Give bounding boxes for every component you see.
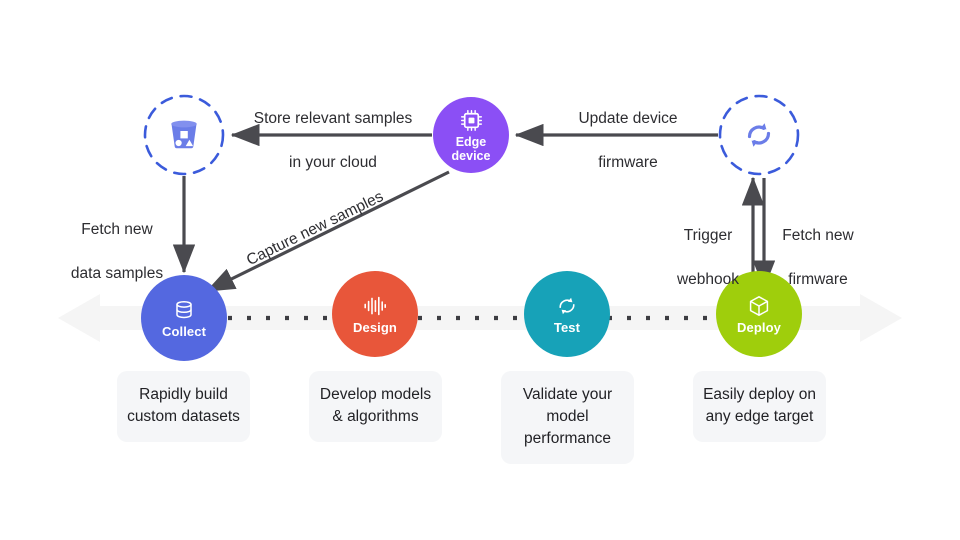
caption-card-deploy: Easily deploy on any edge target [693, 371, 826, 442]
waveform-icon [362, 294, 388, 318]
edge-label-trigger-webhook: Trigger webhook [670, 203, 746, 291]
edge-label-update-device-firmware: Update device firmware [554, 86, 702, 174]
caption-card-collect: Rapidly build custom datasets [117, 371, 250, 442]
pipeline-node-design-label: Design [353, 321, 397, 334]
pipeline-node-collect-label: Collect [162, 325, 206, 338]
pipeline-node-test[interactable]: Test [524, 271, 610, 357]
edge-device-node[interactable]: Edgedevice [433, 97, 509, 173]
edge-label-store-relevant-samples: Store relevant samples in your cloud [232, 86, 434, 174]
sync-arrows-icon [739, 115, 779, 155]
caption-card-test: Validate your model performance [501, 371, 634, 464]
diagram-canvas: Edgedevice Collect [0, 0, 960, 540]
s3-bucket-icon [164, 115, 204, 155]
edge-label-fetch-new-data-samples: Fetch new data samples [58, 197, 176, 285]
firmware-sync-node[interactable] [721, 97, 797, 173]
cloud-storage-node[interactable] [146, 97, 222, 173]
pipeline-node-design[interactable]: Design [332, 271, 418, 357]
edge-label-fetch-new-firmware: Fetch new firmware [772, 203, 864, 291]
cpu-chip-icon [459, 108, 484, 133]
cube-icon [747, 294, 771, 318]
caption-card-design: Develop models & algorithms [309, 371, 442, 442]
pipeline-node-test-label: Test [554, 321, 580, 334]
edge-device-label: Edgedevice [452, 135, 491, 163]
database-icon [172, 298, 196, 322]
pipeline-node-deploy-label: Deploy [737, 321, 781, 334]
pipeline-node-collect[interactable]: Collect [141, 275, 227, 361]
sync-icon [555, 294, 579, 318]
